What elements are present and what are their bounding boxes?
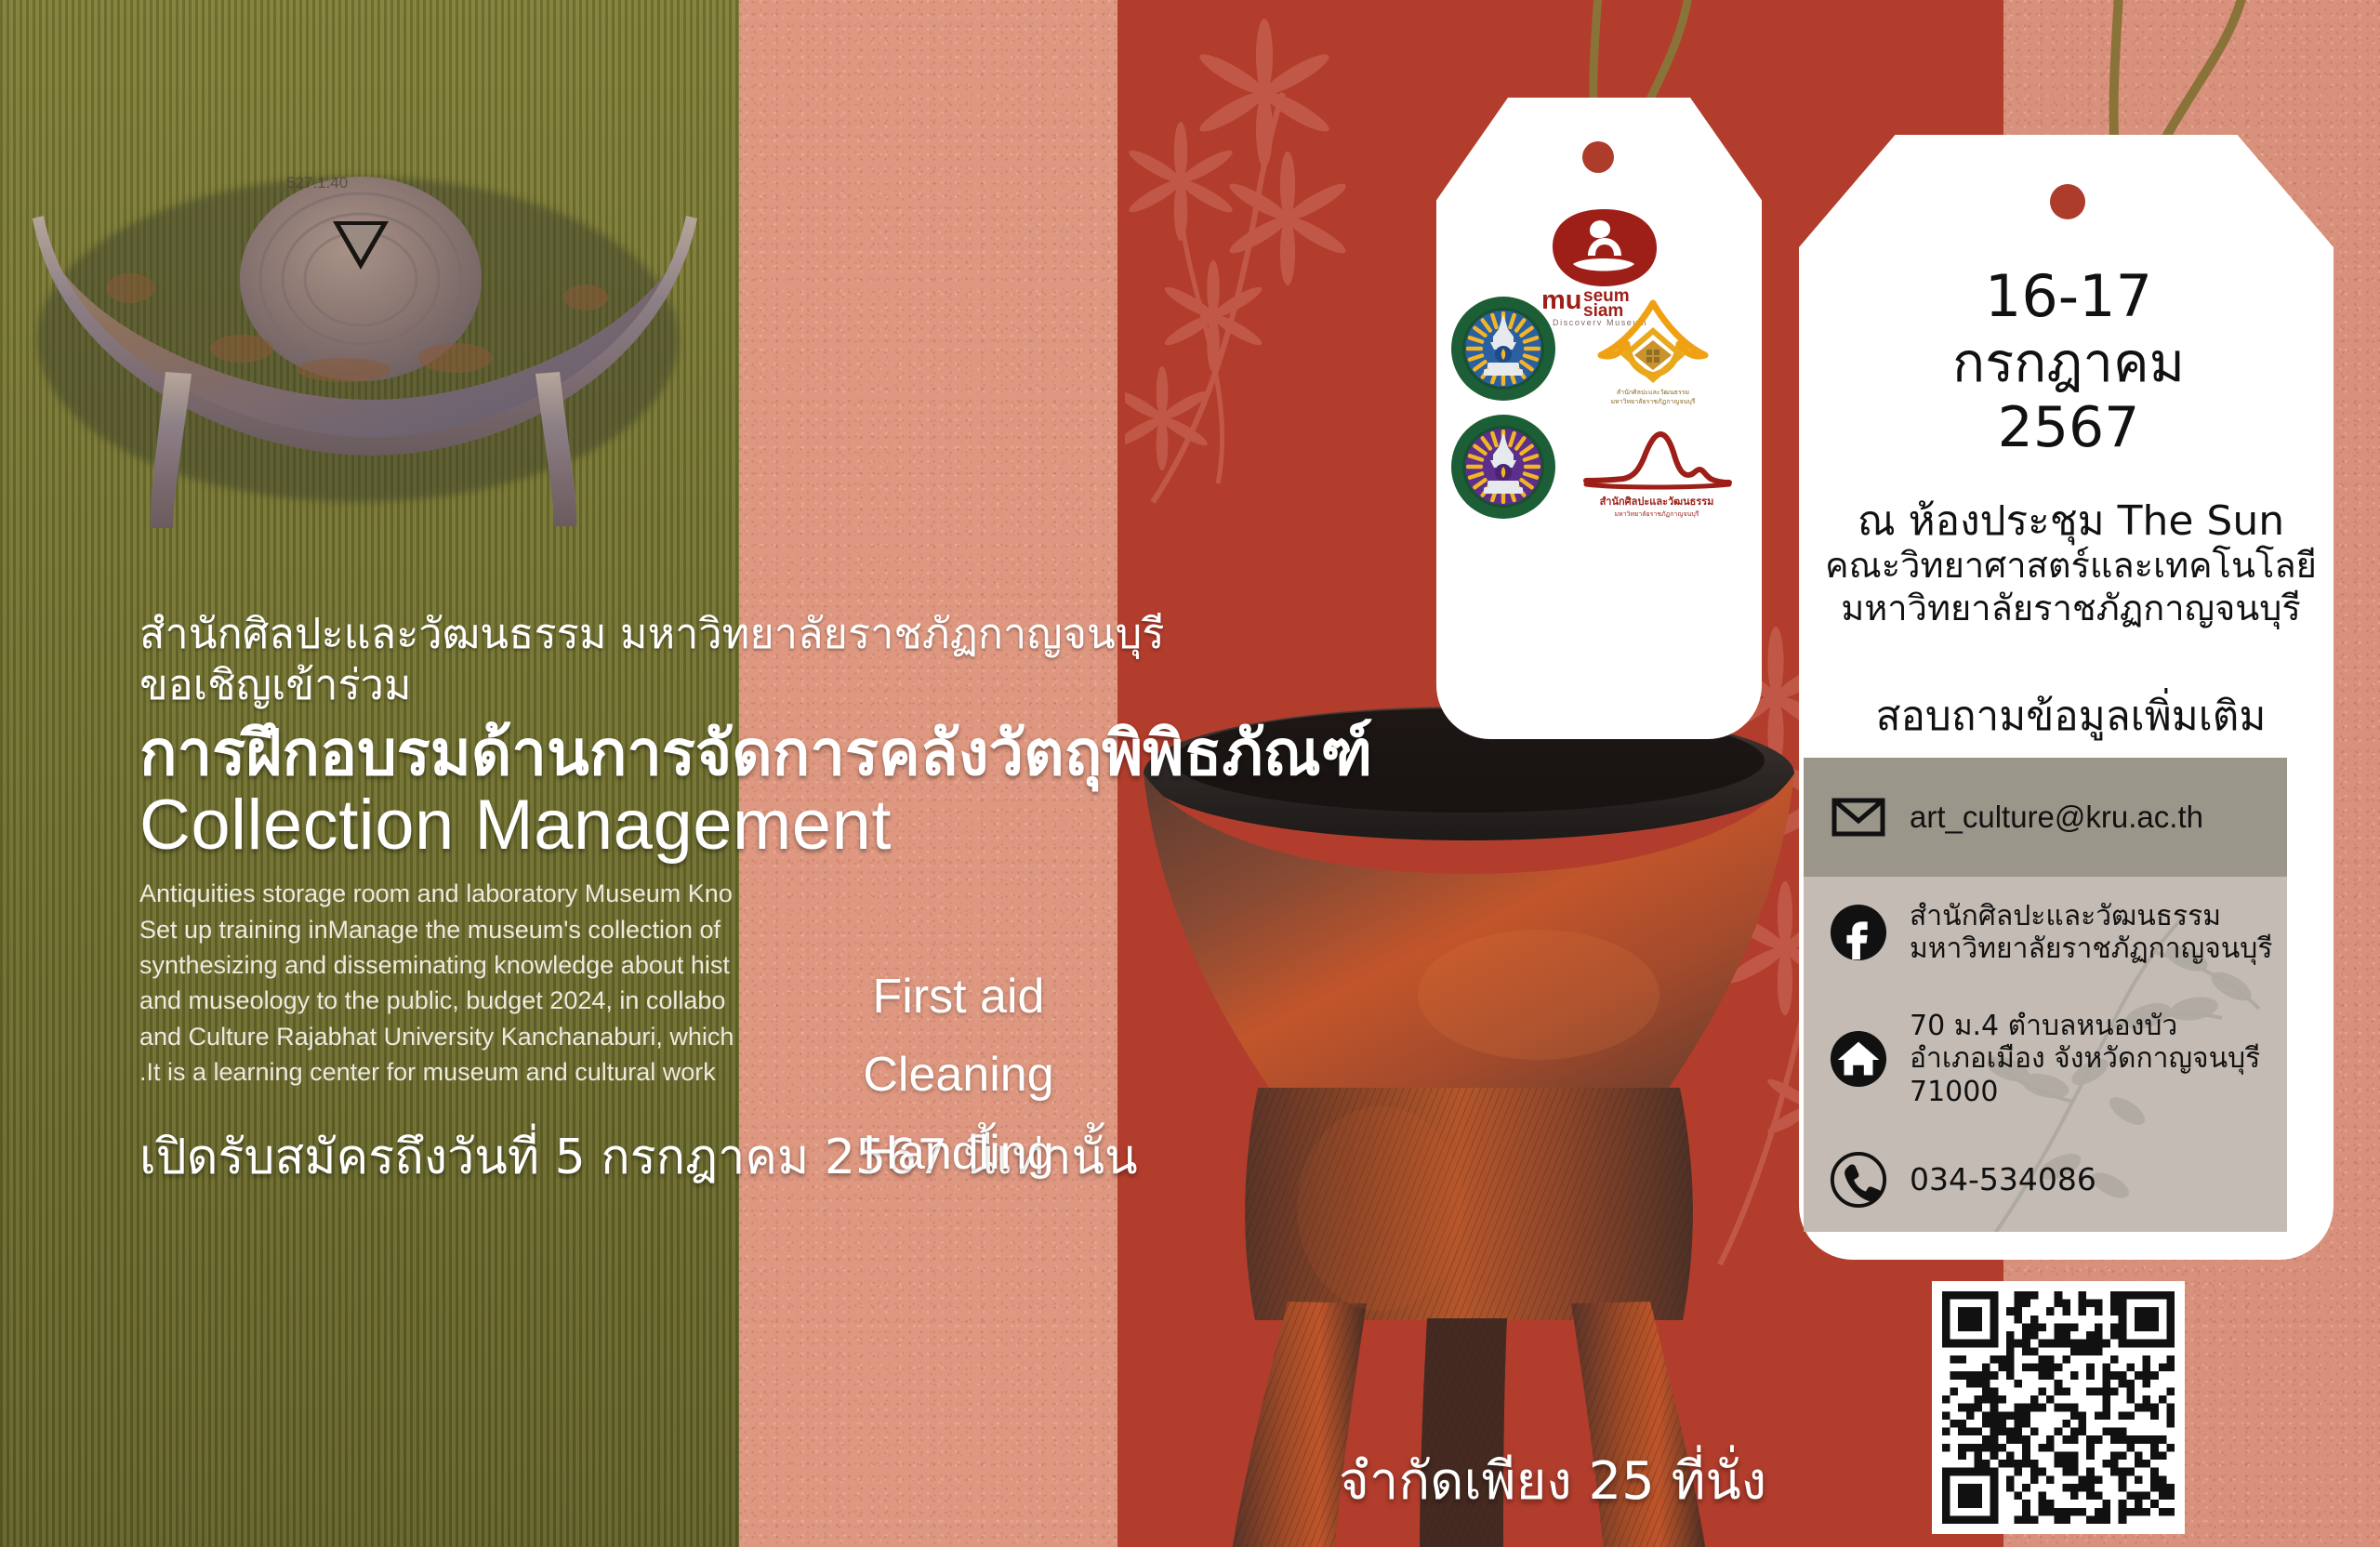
description-line: synthesizing and disseminating knowledge…: [139, 947, 790, 983]
event-date-month: กรกฎาคม: [1836, 328, 2301, 397]
venue-faculty: คณะวิทยาศาสตร์และเทคโนโลยี: [1818, 545, 2324, 588]
contact-email-text: art_culture@kru.ac.th: [1910, 800, 2203, 836]
training-title-english: Collection Management: [139, 788, 1739, 864]
description-line: Antiquities storage room and laboratory …: [139, 876, 790, 911]
facebook-line-1: สำนักศิลปะและวัฒนธรรม: [1910, 900, 2221, 932]
event-date-block: 16-17 กรกฎาคม 2567: [1836, 265, 2301, 458]
description-line: Set up training inManage the museum's co…: [139, 912, 790, 947]
contact-row-address[interactable]: 70 ม.4 ตำบลหนองบัว อำเภอเมือง จังหวัดกาญ…: [1804, 988, 2287, 1130]
svg-text:สำนักศิลปะและวัฒนธรรม: สำนักศิลปะและวัฒนธรรม: [1617, 389, 1689, 396]
contact-address-text: 70 ม.4 ตำบลหนองบัว อำเภอเมือง จังหวัดกาญ…: [1910, 1010, 2260, 1108]
address-line-1: 70 ม.4 ตำบลหนองบัว: [1910, 1010, 2177, 1042]
training-title-thai: การฝึกอบรมด้านการจัดการคลังวัตถุพิพิธภัณ…: [139, 717, 1739, 790]
organizer-line: สำนักศิลปะและวัฒนธรรม มหาวิทยาลัยราชภัฏก…: [139, 609, 1739, 660]
description-line: .It is a learning center for museum and …: [139, 1054, 790, 1090]
poster-canvas: 527.1.40: [0, 0, 2380, 1547]
event-date-year: 2567: [1836, 397, 2301, 458]
svg-text:มหาวิทยาลัยราชภัฏกาญจนบุรี: มหาวิทยาลัยราชภัฏกาญจนบุรี: [1614, 510, 1699, 518]
tag-hole: [2050, 184, 2085, 219]
contact-phone-text: 034-534086: [1910, 1162, 2096, 1198]
contact-facebook-text: สำนักศิลปะและวัฒนธรรม มหาวิทยาลัยราชภัฏก…: [1910, 900, 2272, 966]
venue-room: ณ ห้องประชุม The Sun: [1818, 497, 2324, 545]
venue-block: ณ ห้องประชุม The Sun คณะวิทยาศาสตร์และเท…: [1818, 497, 2324, 629]
svg-text:สำนักศิลปะและวัฒนธรรม: สำนักศิลปะและวัฒนธรรม: [1600, 496, 1714, 508]
facebook-icon: [1824, 898, 1893, 967]
event-date-range: 16-17: [1836, 265, 2301, 328]
contact-row-facebook[interactable]: สำนักศิลปะและวัฒนธรรม มหาวิทยาลัยราชภัฏก…: [1804, 877, 2287, 988]
contact-row-email[interactable]: art_culture@kru.ac.th: [1804, 758, 2287, 877]
bronze-artifact-photo: 527.1.40: [9, 139, 716, 539]
contact-box: art_culture@kru.ac.th สำนักศิลปะและวัฒนธ…: [1804, 758, 2287, 1232]
svg-text:มหาวิทยาลัยราชภัฏกาญจนบุรี: มหาวิทยาลัยราชภัฏกาญจนบุรี: [1610, 398, 1695, 405]
university-seal-green-icon: [1450, 296, 1557, 403]
mountain-brush-logo-icon: สำนักศิลปะและวัฒนธรรม มหาวิทยาลัยราชภัฏก…: [1580, 423, 1734, 525]
envelope-icon: [1824, 783, 1893, 852]
venue-university: มหาวิทยาลัยราชภัฏกาญจนบุรี: [1818, 588, 2324, 630]
phone-icon: [1824, 1145, 1893, 1214]
svg-text:527.1.40: 527.1.40: [286, 174, 348, 192]
seat-limit-text: จำกัดเพียง 25 ที่นั่ง: [1339, 1439, 1766, 1522]
qr-code[interactable]: [1932, 1281, 2185, 1534]
description-line: and Culture Rajabhat University Kanchana…: [139, 1019, 790, 1054]
more-info-heading: สอบถามข้อมูลเพิ่มเติม: [1818, 683, 2324, 748]
home-icon: [1824, 1025, 1893, 1093]
topic-item: Handling: [805, 1114, 1112, 1192]
description-paragraph: Antiquities storage room and laboratory …: [139, 876, 790, 1090]
address-line-2: อำเภอเมือง จังหวัดกาญจนบุรี: [1910, 1042, 2260, 1075]
invitation-line: ขอเชิญเข้าร่วม: [139, 660, 1739, 711]
tag-hole: [1582, 141, 1614, 173]
description-line: and museology to the public, budget 2024…: [139, 983, 790, 1018]
qr-code-image: [1942, 1291, 2175, 1524]
topics-list: First aid Cleaning Handling: [805, 958, 1112, 1193]
university-seal-purple-icon: [1450, 414, 1557, 521]
topic-item: Cleaning: [805, 1036, 1112, 1114]
topic-item: First aid: [805, 958, 1112, 1036]
contact-row-phone[interactable]: 034-534086: [1804, 1130, 2287, 1230]
facebook-line-2: มหาวิทยาลัยราชภัฏกาญจนบุรี: [1910, 932, 2272, 965]
gable-diamond-emblem-icon: สำนักศิลปะและวัฒนธรรม มหาวิทยาลัยราชภัฏก…: [1588, 297, 1718, 414]
address-line-3: 71000: [1910, 1076, 1998, 1108]
